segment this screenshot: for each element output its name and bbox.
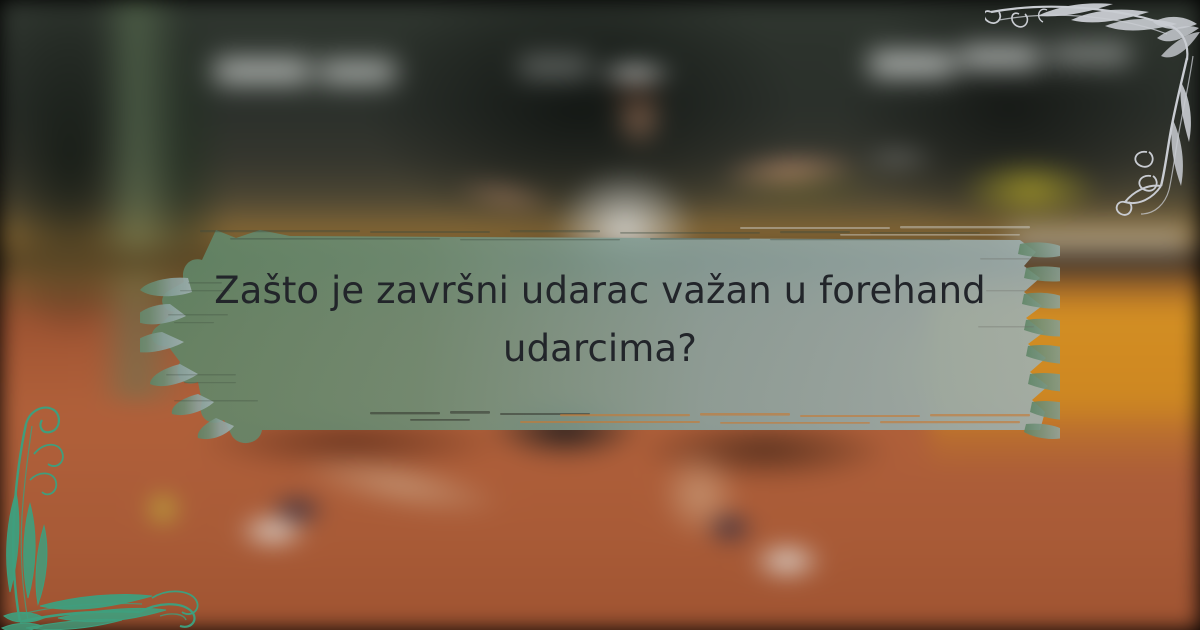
- question-title-line-1: Zašto je završni udarac važan u forehand: [200, 262, 1000, 320]
- question-title: Zašto je završni udarac važan u forehand…: [200, 262, 1000, 378]
- ad-board: [1050, 44, 1130, 64]
- player-cap: [575, 52, 695, 94]
- ad-board: [870, 52, 955, 76]
- ad-board: [215, 60, 310, 82]
- question-card: Zašto je završni udarac važan u forehand…: [0, 0, 1200, 630]
- ad-board: [320, 62, 395, 82]
- question-title-line-2: udarcima?: [200, 320, 1000, 378]
- player-shoe: [732, 528, 842, 594]
- ad-board: [960, 46, 1040, 68]
- player-shoe: [218, 500, 328, 562]
- tennis-ball: [140, 486, 186, 532]
